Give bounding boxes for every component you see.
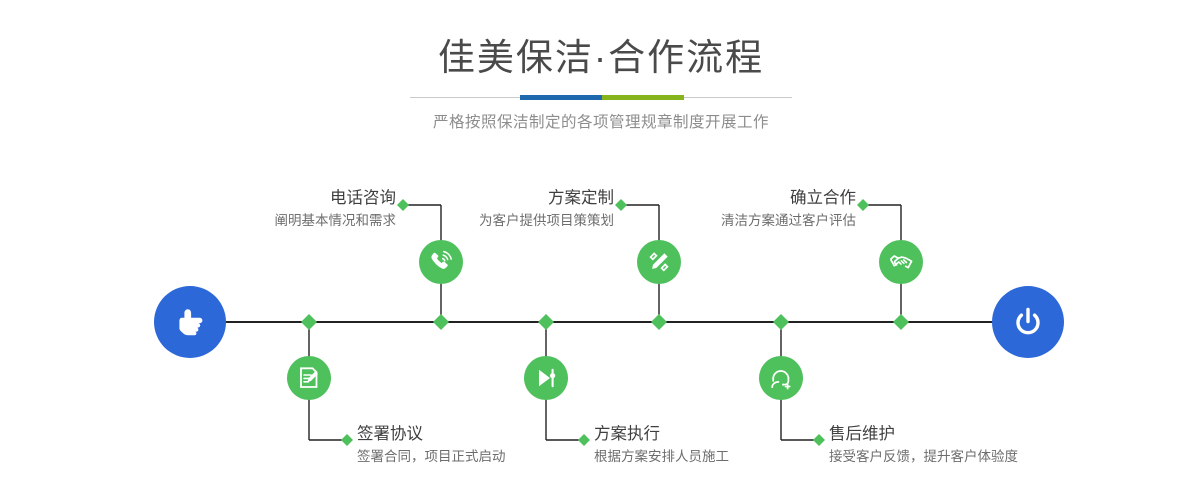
step-title-5: 确立合作 xyxy=(600,188,856,208)
step-desc-1: 阐明基本情况和需求 xyxy=(140,211,396,231)
step-desc-5: 清洁方案通过客户评估 xyxy=(600,211,856,231)
flow-start-endpoint[interactable] xyxy=(154,286,226,358)
timeline-diamond-3 xyxy=(538,314,554,330)
step-icon-3[interactable] xyxy=(637,240,681,284)
phone-call-icon xyxy=(428,249,454,275)
step-label-5: 确立合作 清洁方案通过客户评估 xyxy=(600,188,856,231)
step-icon-5[interactable] xyxy=(879,240,923,284)
handshake-icon xyxy=(888,249,915,276)
step-title-3: 方案定制 xyxy=(360,188,614,208)
step-desc-3: 为客户提供项目策策划 xyxy=(360,211,614,231)
step-icon-4[interactable] xyxy=(524,356,568,400)
pointing-hand-icon xyxy=(170,302,210,342)
flow-end-endpoint[interactable] xyxy=(992,286,1064,358)
headset-support-icon xyxy=(768,365,794,391)
timeline-diamond-6 xyxy=(893,314,909,330)
step-desc-6: 接受客户反馈，提升客户体验度 xyxy=(829,447,1159,467)
document-sign-icon xyxy=(296,365,322,391)
timeline-diamond-4 xyxy=(651,314,667,330)
timeline-diamond-2 xyxy=(433,314,449,330)
power-button-icon xyxy=(1008,302,1048,342)
step-icon-6[interactable] xyxy=(759,356,803,400)
step-title-6: 售后维护 xyxy=(829,424,1159,444)
pencil-ruler-icon xyxy=(646,249,672,275)
step-icon-1[interactable] xyxy=(419,240,463,284)
timeline-diamond-5 xyxy=(773,314,789,330)
label-diamond-step-5 xyxy=(857,199,869,211)
process-flow-diagram: 电话咨询 阐明基本情况和需求 签署协议 签署合同，项目正式启动 方案定制 为客户… xyxy=(0,0,1202,502)
step-label-1: 电话咨询 阐明基本情况和需求 xyxy=(140,188,396,231)
step-label-3: 方案定制 为客户提供项目策策划 xyxy=(360,188,614,231)
play-execute-icon xyxy=(533,365,559,391)
step-label-6: 售后维护 接受客户反馈，提升客户体验度 xyxy=(829,424,1159,467)
label-diamond-step-2 xyxy=(341,434,353,446)
step-title-1: 电话咨询 xyxy=(140,188,396,208)
timeline-diamond-1 xyxy=(301,314,317,330)
step-icon-2[interactable] xyxy=(287,356,331,400)
